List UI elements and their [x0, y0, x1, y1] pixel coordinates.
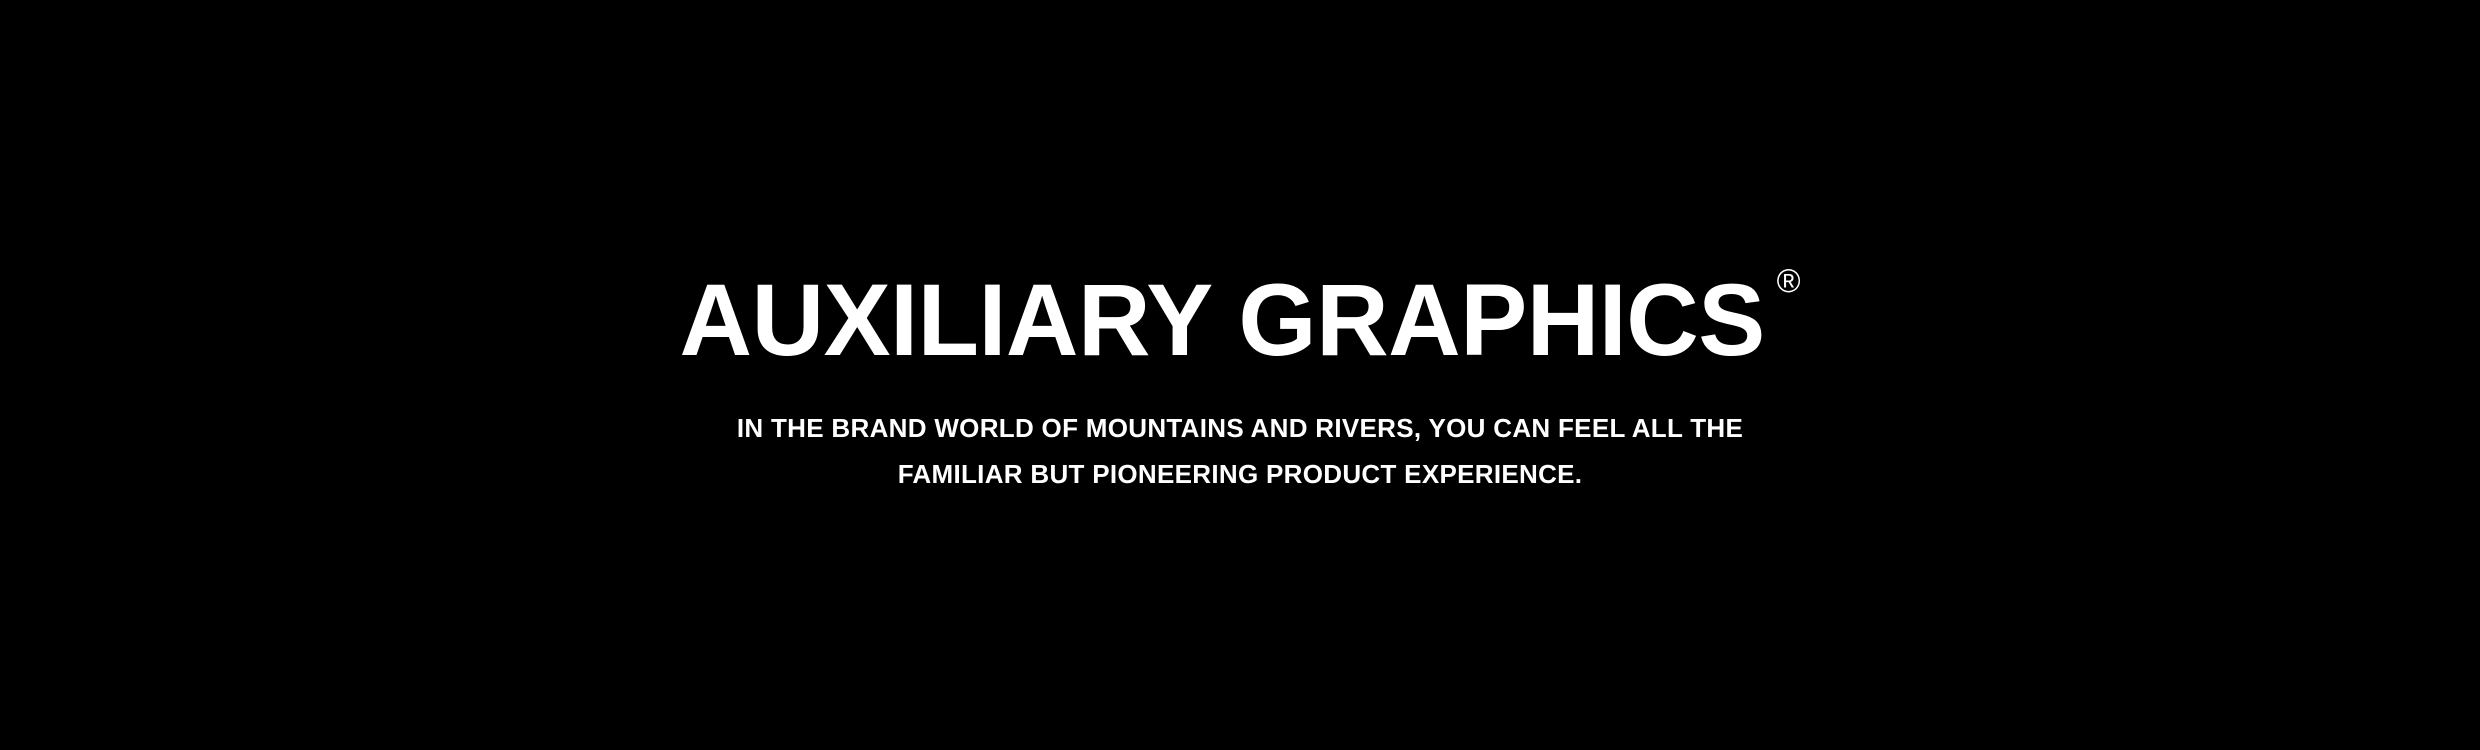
registered-trademark-icon: ®: [1777, 264, 1801, 297]
hero-subtitle: IN THE BRAND WORLD OF MOUNTAINS AND RIVE…: [737, 372, 1743, 497]
hero-subtitle-line-1: IN THE BRAND WORLD OF MOUNTAINS AND RIVE…: [737, 405, 1743, 451]
hero-subtitle-line-2: FAMILIAR BUT PIONEERING PRODUCT EXPERIEN…: [737, 451, 1743, 497]
page-title-text: AUXILIARY GRAPHICS: [679, 263, 1764, 377]
page-title: AUXILIARY GRAPHICS®: [679, 268, 1800, 372]
hero-section: AUXILIARY GRAPHICS® IN THE BRAND WORLD O…: [0, 0, 2480, 750]
